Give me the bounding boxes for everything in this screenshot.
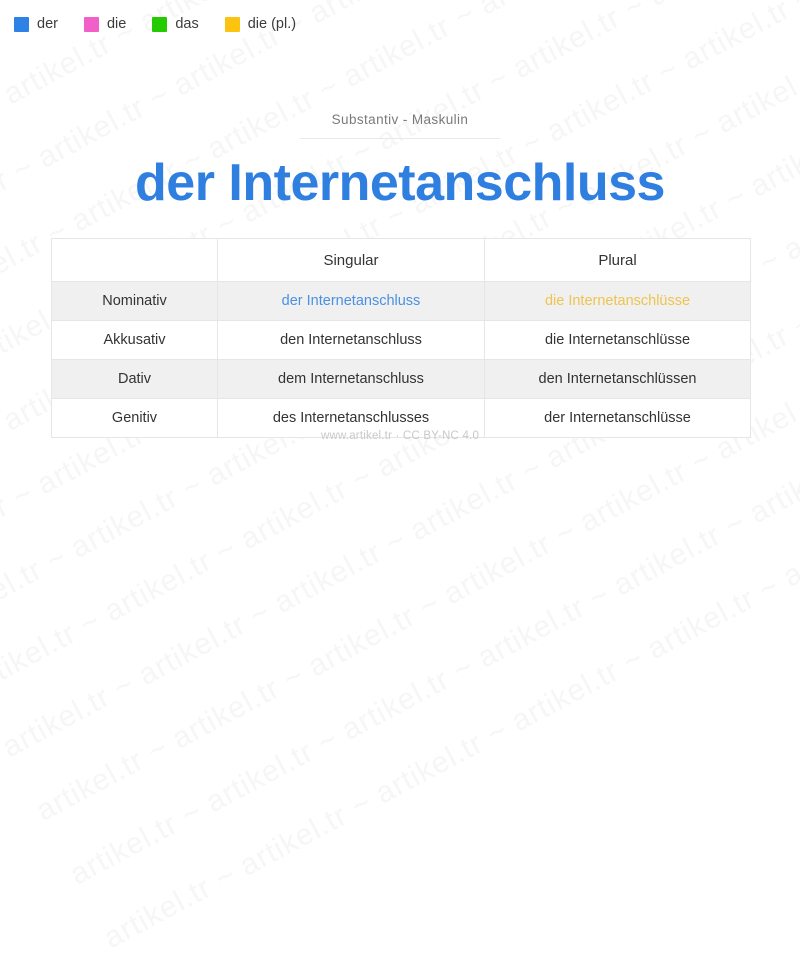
header-divider	[300, 138, 500, 139]
cell-akkusativ-plural: die Internetanschlüsse	[485, 321, 751, 360]
page-title: der Internetanschluss	[0, 156, 800, 211]
table-body: Nominativ der Internetanschluss die Inte…	[52, 282, 751, 438]
word-type-subtitle: Substantiv - Maskulin	[0, 112, 800, 138]
legend-item-der: der	[14, 16, 58, 32]
column-header-case	[52, 239, 218, 282]
declension-table: Singular Plural Nominativ der Internetan…	[51, 238, 751, 438]
article-color-legend: der die das die (pl.)	[14, 16, 296, 32]
table-row: Nominativ der Internetanschluss die Inte…	[52, 282, 751, 321]
legend-label-die-pl: die (pl.)	[248, 16, 296, 32]
legend-swatch-die	[84, 17, 99, 32]
column-header-plural: Plural	[485, 239, 751, 282]
cell-dativ-plural: den Internetanschlüssen	[485, 360, 751, 399]
legend-label-das: das	[175, 16, 198, 32]
cell-nominativ-singular: der Internetanschluss	[218, 282, 485, 321]
table-row: Akkusativ den Internetanschluss die Inte…	[52, 321, 751, 360]
case-label-akkusativ: Akkusativ	[52, 321, 218, 360]
legend-swatch-das	[152, 17, 167, 32]
card-header: Substantiv - Maskulin der Internetanschl…	[0, 112, 800, 211]
table-header: Singular Plural	[52, 239, 751, 282]
legend-label-die: die	[107, 16, 126, 32]
declension-card: der die das die (pl.) Substantiv - Masku…	[0, 0, 800, 533]
table-row: Dativ dem Internetanschluss den Internet…	[52, 360, 751, 399]
legend-item-das: das	[152, 16, 198, 32]
legend-item-die-plural: die (pl.)	[225, 16, 296, 32]
cell-akkusativ-singular: den Internetanschluss	[218, 321, 485, 360]
column-header-singular: Singular	[218, 239, 485, 282]
cell-dativ-singular: dem Internetanschluss	[218, 360, 485, 399]
footer-attribution: www.artikel.tr · CC BY-NC 4.0	[0, 430, 800, 442]
table-header-row: Singular Plural	[52, 239, 751, 282]
case-label-dativ: Dativ	[52, 360, 218, 399]
legend-swatch-die-pl	[225, 17, 240, 32]
legend-item-die: die	[84, 16, 126, 32]
cell-nominativ-plural: die Internetanschlüsse	[485, 282, 751, 321]
legend-swatch-der	[14, 17, 29, 32]
legend-label-der: der	[37, 16, 58, 32]
case-label-nominativ: Nominativ	[52, 282, 218, 321]
